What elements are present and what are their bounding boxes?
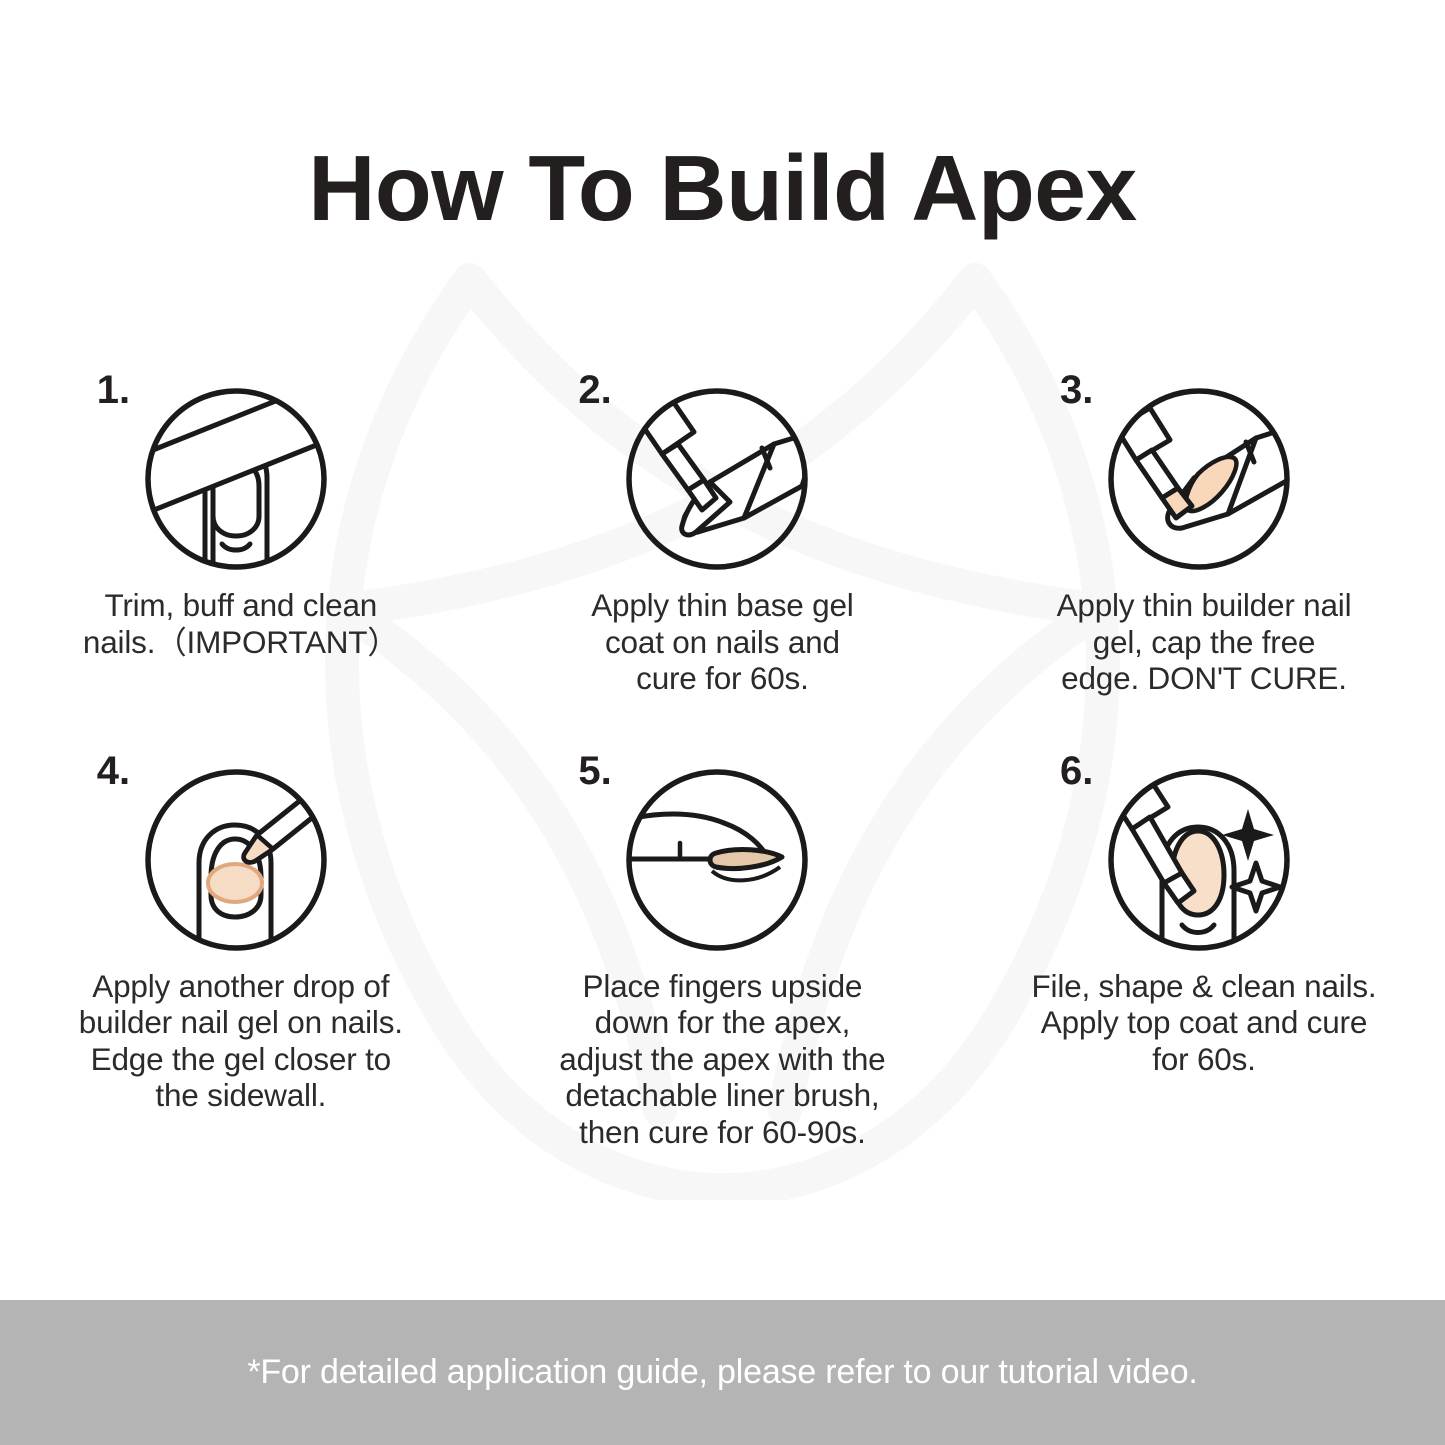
- steps-row-top: 1. Trim, b: [0, 368, 1445, 697]
- step-card-4: 4.: [0, 749, 482, 1151]
- page-title: How To Build Apex: [0, 140, 1445, 238]
- step-6-number: 6.: [1060, 751, 1093, 791]
- finger-upside-down-apex-icon: [624, 767, 810, 953]
- step-card-3: 3.: [963, 368, 1445, 697]
- steps-row-bottom: 4.: [0, 749, 1445, 1151]
- buffer-file-sparkle-icon: [1106, 767, 1292, 953]
- gel-drop-on-nail-icon: [143, 767, 329, 953]
- step-1-illustration-wrap: 1.: [91, 368, 391, 573]
- step-card-5: 5.: [482, 749, 964, 1151]
- step-3-illustration-wrap: 3.: [1054, 368, 1354, 573]
- step-5-caption: Place fingers upside down for the apex, …: [522, 968, 922, 1151]
- footer-banner: *For detailed application guide, please …: [0, 1300, 1445, 1445]
- step-1-number: 1.: [97, 370, 130, 410]
- step-3-caption: Apply thin builder nail gel, cap the fre…: [1004, 587, 1404, 697]
- footer-note: *For detailed application guide, please …: [247, 1353, 1197, 1392]
- step-3-number: 3.: [1060, 370, 1093, 410]
- step-card-2: 2.: [482, 368, 964, 697]
- step-6-caption: File, shape & clean nails. Apply top coa…: [1004, 968, 1404, 1078]
- infographic-page: How To Build Apex 1.: [0, 0, 1445, 1445]
- step-4-illustration-wrap: 4.: [91, 749, 391, 954]
- step-1-caption: Trim, buff and clean nails.（IMPORTANT）: [41, 587, 441, 660]
- step-6-illustration-wrap: 6.: [1054, 749, 1354, 954]
- step-2-caption: Apply thin base gel coat on nails and cu…: [522, 587, 922, 697]
- step-2-illustration-wrap: 2.: [572, 368, 872, 573]
- step-card-1: 1. Trim, b: [0, 368, 482, 697]
- step-2-number: 2.: [578, 370, 611, 410]
- nail-file-on-finger-icon: [143, 386, 329, 572]
- steps-grid: 1. Trim, b: [0, 368, 1445, 1150]
- step-5-illustration-wrap: 5.: [572, 749, 872, 954]
- step-card-6: 6.: [963, 749, 1445, 1151]
- step-4-caption: Apply another drop of builder nail gel o…: [41, 968, 441, 1114]
- brush-base-coat-icon: [624, 386, 810, 572]
- brush-builder-gel-icon: [1106, 386, 1292, 572]
- step-5-number: 5.: [578, 751, 611, 791]
- step-4-number: 4.: [97, 751, 130, 791]
